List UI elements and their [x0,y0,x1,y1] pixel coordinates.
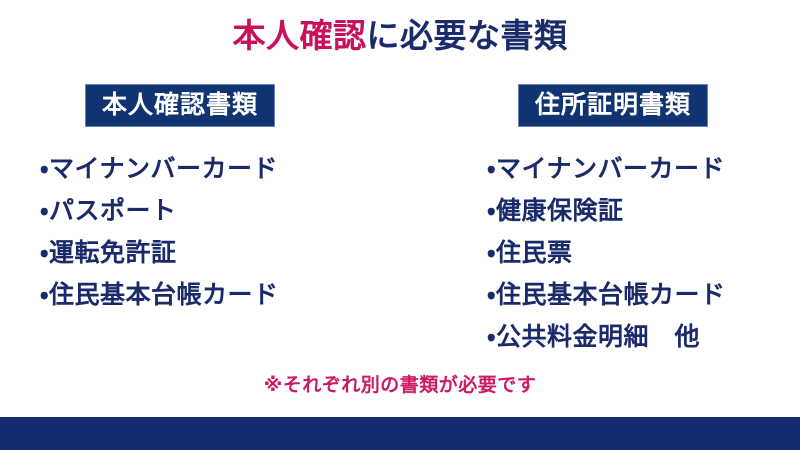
bullet-icon: ・ [40,154,49,183]
bullet-icon: ・ [487,154,496,183]
page-title: 本人確認に必要な書類 [0,16,800,56]
bullet-icon: ・ [487,322,496,351]
bullet-icon: ・ [487,280,496,309]
list-item: ・マイナンバーカード [487,148,793,190]
section-header-address-proof-documents: 住所証明書類 [518,84,708,127]
list-item: ・健康保険証 [487,190,793,232]
list-item-label: 健康保険証 [496,196,624,225]
list-item-label: パスポート [49,196,177,225]
list-item: ・運転免許証 [40,232,370,274]
list-item: ・住民基本台帳カード [487,274,793,316]
bullet-icon: ・ [487,196,496,225]
list-item: ・マイナンバーカード [40,148,370,190]
list-item: ・パスポート [40,190,370,232]
bullet-icon: ・ [40,196,49,225]
column-identity-documents: 本人確認書類 ・マイナンバーカード ・パスポート ・運転免許証 ・住民基本台帳カ… [30,84,370,316]
section-header-identity-documents: 本人確認書類 [85,84,275,127]
footnote-note: ※それぞれ別の書類が必要です [0,372,800,398]
list-item-label: 運転免許証 [49,238,177,267]
slide-canvas: 本人確認に必要な書類 本人確認書類 ・マイナンバーカード ・パスポート ・運転免… [0,0,800,450]
section-header-wrap-identity: 本人確認書類 [30,84,370,127]
list-item-label: 住民票 [496,238,573,267]
list-identity-documents: ・マイナンバーカード ・パスポート ・運転免許証 ・住民基本台帳カード [30,148,370,316]
list-item-label: マイナンバーカード [49,154,278,183]
document-columns: 本人確認書類 ・マイナンバーカード ・パスポート ・運転免許証 ・住民基本台帳カ… [0,84,800,364]
bullet-icon: ・ [487,238,496,267]
page-title-accent: 本人確認 [233,16,367,55]
section-header-wrap-address: 住所証明書類 [463,84,793,127]
column-address-proof-documents: 住所証明書類 ・マイナンバーカード ・健康保険証 ・住民票 ・住民基本台帳カード… [463,84,793,358]
list-address-proof-documents: ・マイナンバーカード ・健康保険証 ・住民票 ・住民基本台帳カード ・公共料金明… [463,148,793,358]
list-item-label: マイナンバーカード [496,154,725,183]
bullet-icon: ・ [40,238,49,267]
list-item-label: 住民基本台帳カード [49,280,279,309]
list-item: ・住民票 [487,232,793,274]
page-title-plain: に必要な書類 [367,16,568,55]
list-item: ・住民基本台帳カード [40,274,370,316]
bullet-icon: ・ [40,280,49,309]
list-item-label: 住民基本台帳カード [496,280,726,309]
list-item-label: 公共料金明細 他 [496,322,700,351]
list-item: ・公共料金明細 他 [487,316,793,358]
bottom-bar [0,417,800,450]
